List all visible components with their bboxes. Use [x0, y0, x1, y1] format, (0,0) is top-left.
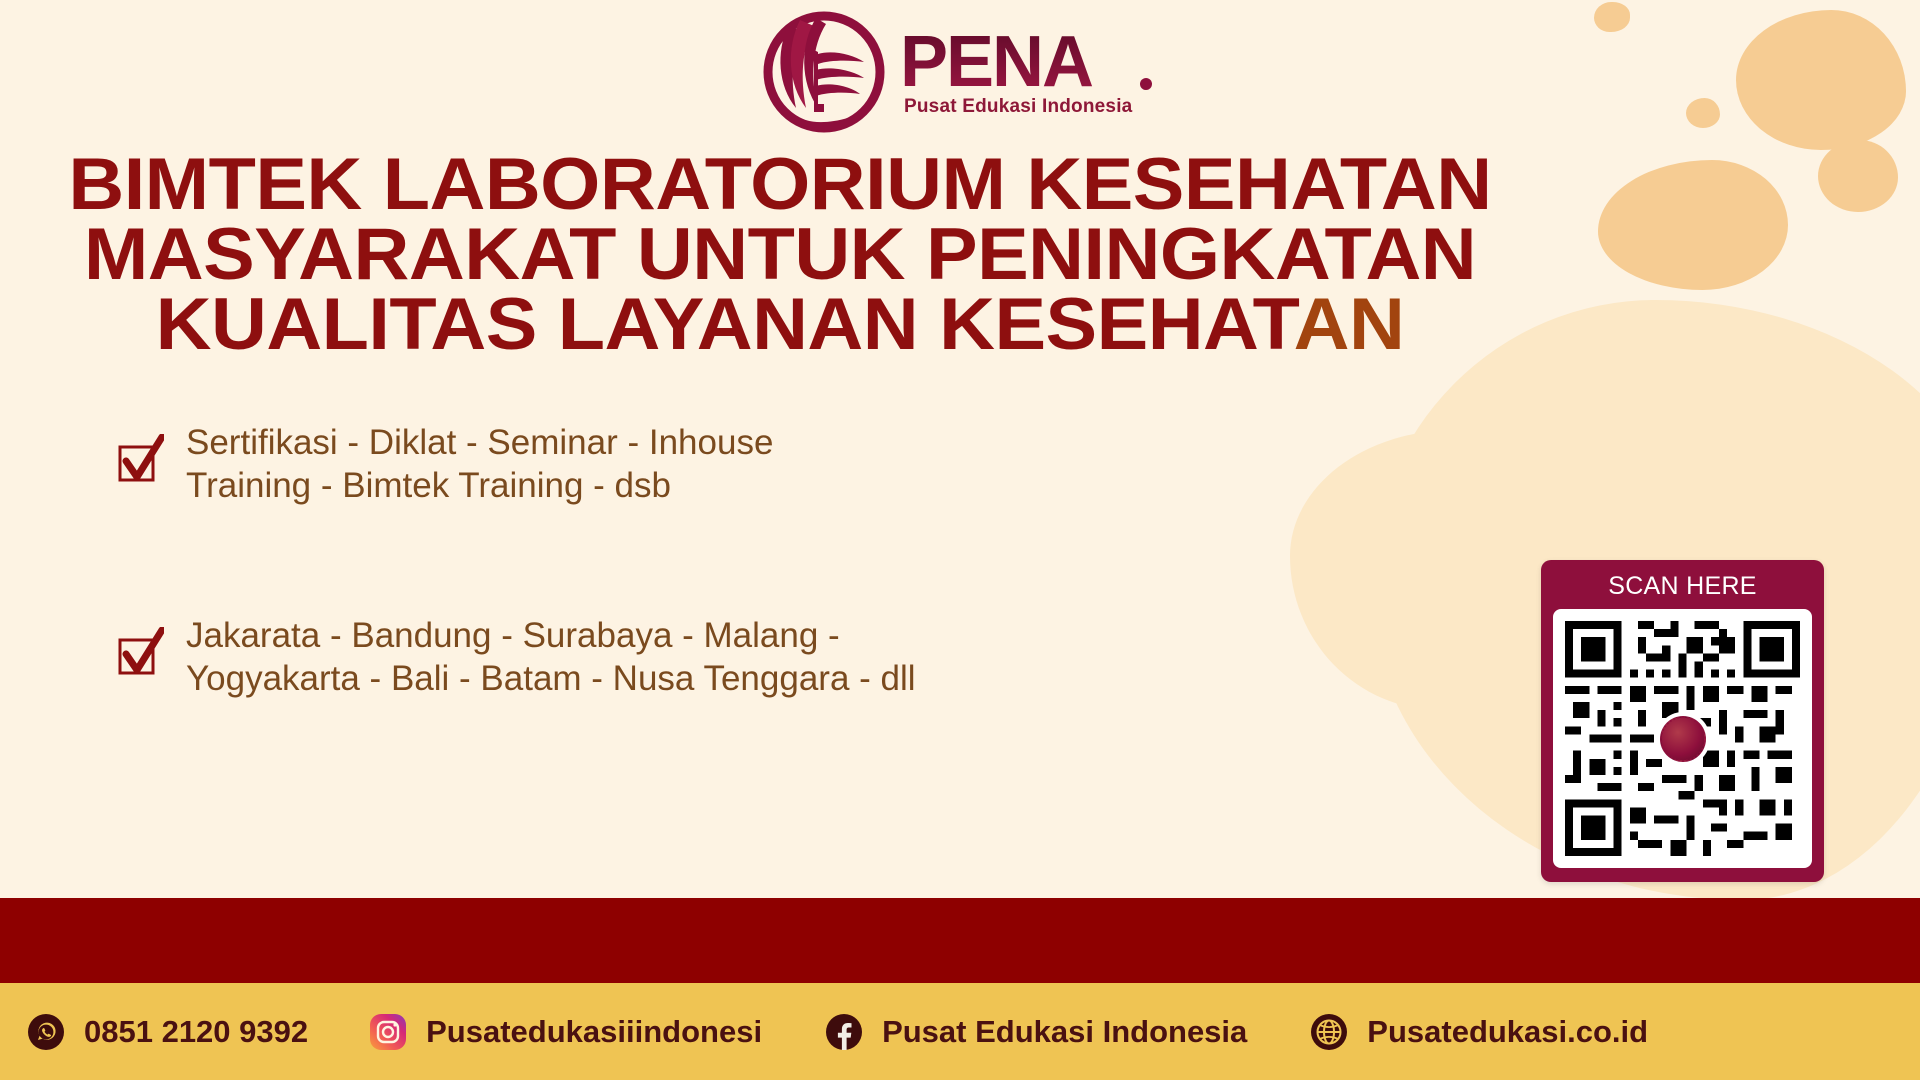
contact-whatsapp-label: 0851 2120 9392 [84, 1014, 308, 1050]
contact-facebook-label: Pusat Edukasi Indonesia [882, 1014, 1247, 1050]
list-item: Sertifikasi - Diklat - Seminar - Inhouse… [118, 422, 1078, 507]
list-item: Jakarata - Bandung - Surabaya - Malang -… [118, 615, 1078, 700]
list-item-line-2: Training - Bimtek Training - dsb [186, 465, 773, 508]
contact-facebook[interactable]: Pusat Edukasi Indonesia [824, 1012, 1247, 1052]
facebook-icon [824, 1012, 864, 1052]
headline-line-3: KUALITAS LAYANAN KESEHATAN [0, 290, 1607, 360]
headline-line-2: MASYARAKAT UNTUK PENINGKATAN [0, 220, 1607, 290]
page-title: BIMTEK LABORATORIUM KESEHATAN MASYARAKAT… [0, 150, 1607, 360]
brand-logo: PENA Pusat Edukasi Indonesia [0, 8, 1920, 136]
checkbox-checked-icon [118, 627, 164, 681]
checkbox-checked-icon [118, 434, 164, 488]
qr-card-title: SCAN HERE [1553, 572, 1812, 601]
list-item-text: Sertifikasi - Diklat - Seminar - Inhouse… [186, 422, 773, 507]
divider-band [0, 898, 1920, 983]
feature-list: Sertifikasi - Diklat - Seminar - Inhouse… [118, 422, 1078, 701]
svg-text:PENA: PENA [900, 26, 1093, 98]
whatsapp-icon [26, 1012, 66, 1052]
headline-line-3-accent: AN [1294, 284, 1405, 365]
list-item-line-1: Jakarata - Bandung - Surabaya - Malang - [186, 615, 916, 658]
contact-website-label: Pusatedukasi.co.id [1367, 1014, 1648, 1050]
headline-line-3-main: KUALITAS LAYANAN KESEHAT [156, 284, 1294, 365]
qr-code-container[interactable] [1553, 609, 1812, 868]
decorative-blob-5 [1598, 160, 1788, 290]
globe-icon [1309, 1012, 1349, 1052]
logo-tagline: Pusat Edukasi Indonesia [900, 96, 1132, 118]
pena-circle-badge-icon [1656, 712, 1710, 766]
pena-feather-circle-logo-icon [760, 8, 888, 136]
contact-instagram-label: Pusatedukasiiindonesi [426, 1014, 762, 1050]
list-item-text: Jakarata - Bandung - Surabaya - Malang -… [186, 615, 916, 700]
list-item-line-2: Yogyakarta - Bali - Batam - Nusa Tenggar… [186, 658, 916, 701]
contact-instagram[interactable]: Pusatedukasiiindonesi [368, 1012, 762, 1052]
list-item-line-1: Sertifikasi - Diklat - Seminar - Inhouse [186, 422, 773, 465]
contact-whatsapp[interactable]: 0851 2120 9392 [26, 1012, 308, 1052]
decorative-blob-4 [1818, 140, 1898, 212]
contact-website[interactable]: Pusatedukasi.co.id [1309, 1012, 1648, 1052]
headline-line-1: BIMTEK LABORATORIUM KESEHATAN [0, 150, 1607, 220]
pena-wordmark-icon: PENA [900, 26, 1160, 98]
instagram-icon [368, 1012, 408, 1052]
contact-footer: 0851 2120 9392 Pusatedukasiiindonesi Pus [0, 983, 1920, 1080]
qr-scan-card[interactable]: SCAN HERE [1541, 560, 1824, 882]
